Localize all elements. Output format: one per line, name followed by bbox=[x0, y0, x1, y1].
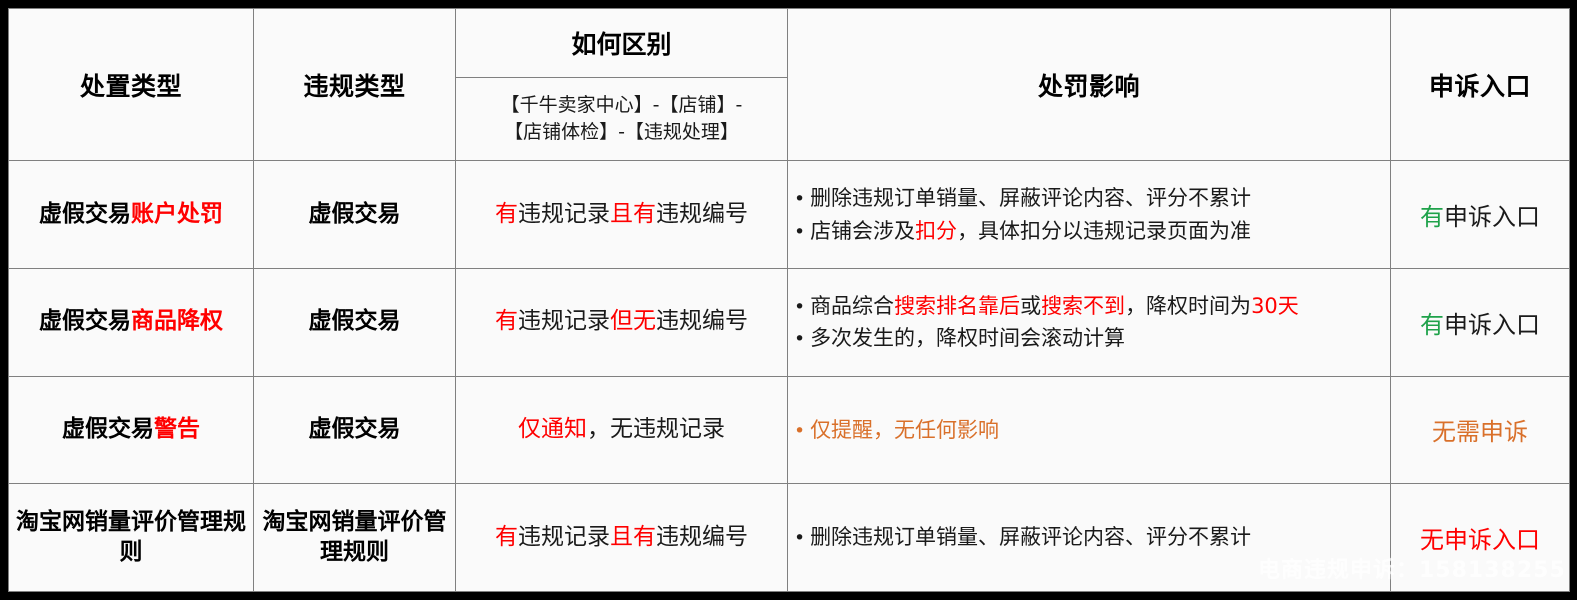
cell-disposal-type: 虚假交易警告 bbox=[9, 376, 254, 484]
text-run: 违规记录 bbox=[518, 524, 610, 550]
text-run: 且有 bbox=[610, 201, 656, 227]
table-row: 虚假交易商品降权 虚假交易 有违规记录但无违规编号 商品综合搜索排名靠后或搜索不… bbox=[9, 269, 1570, 377]
impact-bullet-line: 删除违规订单销量、屏蔽评论内容、评分不累计 bbox=[794, 521, 1384, 554]
cell-penalty-impact: 商品综合搜索排名靠后或搜索不到，降权时间为30天多次发生的，降权时间会滚动计算 bbox=[788, 269, 1391, 377]
text-run: 扣分 bbox=[915, 219, 957, 243]
text-run: 仅通知 bbox=[518, 416, 587, 442]
header-cell-violation-type: 违规类型 bbox=[254, 9, 456, 161]
impact-bullet-line: 多次发生的，降权时间会滚动计算 bbox=[794, 322, 1384, 355]
cell-appeal-entry: 有申诉入口 bbox=[1391, 269, 1570, 377]
text-run: 30天 bbox=[1251, 294, 1299, 318]
table-row: 淘宝网销量评价管理规则 淘宝网销量评价管理规则 有违规记录且有违规编号 删除违规… bbox=[9, 484, 1570, 592]
header-path-line-2: 【店铺体检】-【违规处理】 bbox=[462, 119, 781, 147]
cell-disposal-type: 虚假交易账户处罚 bbox=[9, 161, 254, 269]
text-run: 多次发生的，降权时间会滚动计算 bbox=[810, 326, 1125, 350]
cell-violation-type: 虚假交易 bbox=[254, 269, 456, 377]
text-run: 有 bbox=[495, 308, 518, 334]
text-run: 无申诉入口 bbox=[1420, 526, 1540, 554]
text-run: 申诉入口 bbox=[1444, 203, 1540, 231]
penalty-comparison-table: 处置类型 违规类型 如何区别 处罚影响 申诉入口 【千牛卖家中心】-【店铺】- … bbox=[8, 8, 1570, 592]
cell-how-to-distinguish: 仅通知，无违规记录 bbox=[456, 376, 788, 484]
text-run: 虚假交易 bbox=[309, 308, 401, 334]
text-run: 淘宝网销量评价管理规则 bbox=[16, 509, 246, 565]
text-run: 且有 bbox=[610, 524, 656, 550]
text-run: 违规记录 bbox=[518, 308, 610, 334]
text-run: 虚假交易 bbox=[62, 416, 154, 442]
text-run: 仅提醒，无任何影响 bbox=[810, 418, 999, 442]
cell-violation-type: 虚假交易 bbox=[254, 161, 456, 269]
header-cell-appeal-entry: 申诉入口 bbox=[1391, 9, 1570, 161]
cell-how-to-distinguish: 有违规记录且有违规编号 bbox=[456, 484, 788, 592]
text-run: 搜索排名靠后 bbox=[894, 294, 1020, 318]
impact-bullet-line: 仅提醒，无任何影响 bbox=[794, 414, 1384, 447]
text-run: 或 bbox=[1020, 294, 1041, 318]
text-run: 有 bbox=[495, 524, 518, 550]
text-run: 虚假交易 bbox=[39, 308, 131, 334]
text-run: 商品降权 bbox=[131, 308, 223, 334]
cell-violation-type: 虚假交易 bbox=[254, 376, 456, 484]
text-run: 申诉入口 bbox=[1444, 311, 1540, 339]
cell-penalty-impact: 删除违规订单销量、屏蔽评论内容、评分不累计 bbox=[788, 484, 1391, 592]
text-run: 删除违规订单销量、屏蔽评论内容、评分不累计 bbox=[810, 186, 1251, 210]
text-run: 删除违规订单销量、屏蔽评论内容、评分不累计 bbox=[810, 525, 1251, 549]
text-run: 但无 bbox=[610, 308, 656, 334]
header-cell-penalty-impact: 处罚影响 bbox=[788, 9, 1391, 161]
text-run: 违规编号 bbox=[656, 524, 748, 550]
cell-penalty-impact: 删除违规订单销量、屏蔽评论内容、评分不累计店铺会涉及扣分，具体扣分以违规记录页面… bbox=[788, 161, 1391, 269]
text-run: 违规编号 bbox=[656, 308, 748, 334]
cell-disposal-type: 虚假交易商品降权 bbox=[9, 269, 254, 377]
cell-how-to-distinguish: 有违规记录且有违规编号 bbox=[456, 161, 788, 269]
cell-appeal-entry: 有申诉入口 bbox=[1391, 161, 1570, 269]
text-run: 违规记录 bbox=[518, 201, 610, 227]
text-run: 搜索不到 bbox=[1041, 294, 1125, 318]
text-run: 账户处罚 bbox=[131, 201, 223, 227]
cell-how-to-distinguish: 有违规记录但无违规编号 bbox=[456, 269, 788, 377]
text-run: ，无违规记录 bbox=[587, 416, 725, 442]
header-cell-disposal-type: 处置类型 bbox=[9, 9, 254, 161]
text-run: 虚假交易 bbox=[39, 201, 131, 227]
table-row: 虚假交易警告 虚假交易 仅通知，无违规记录 仅提醒，无任何影响 无需申诉 bbox=[9, 376, 1570, 484]
text-run: 违规编号 bbox=[656, 201, 748, 227]
text-run: ，降权时间为 bbox=[1125, 294, 1251, 318]
cell-appeal-entry: 无申诉入口 bbox=[1391, 484, 1570, 592]
impact-bullet-line: 商品综合搜索排名靠后或搜索不到，降权时间为30天 bbox=[794, 290, 1384, 323]
impact-bullet-line: 店铺会涉及扣分，具体扣分以违规记录页面为准 bbox=[794, 215, 1384, 248]
table-screenshot: 处置类型 违规类型 如何区别 处罚影响 申诉入口 【千牛卖家中心】-【店铺】- … bbox=[0, 0, 1577, 600]
cell-violation-type: 淘宝网销量评价管理规则 bbox=[254, 484, 456, 592]
cell-disposal-type: 淘宝网销量评价管理规则 bbox=[9, 484, 254, 592]
text-run: 有 bbox=[1420, 203, 1444, 231]
text-run: 商品综合 bbox=[810, 294, 894, 318]
text-run: 无需申诉 bbox=[1432, 418, 1528, 446]
cell-appeal-entry: 无需申诉 bbox=[1391, 376, 1570, 484]
impact-bullet-line: 删除违规订单销量、屏蔽评论内容、评分不累计 bbox=[794, 182, 1384, 215]
header-cell-how-to-distinguish: 如何区别 bbox=[456, 9, 788, 78]
text-run: 虚假交易 bbox=[309, 201, 401, 227]
text-run: 虚假交易 bbox=[309, 416, 401, 442]
text-run: 警告 bbox=[154, 416, 200, 442]
table-row: 虚假交易账户处罚 虚假交易 有违规记录且有违规编号 删除违规订单销量、屏蔽评论内… bbox=[9, 161, 1570, 269]
table-header-row: 处置类型 违规类型 如何区别 处罚影响 申诉入口 bbox=[9, 9, 1570, 78]
cell-penalty-impact: 仅提醒，无任何影响 bbox=[788, 376, 1391, 484]
text-run: ，具体扣分以违规记录页面为准 bbox=[957, 219, 1251, 243]
text-run: 淘宝网销量评价管理规则 bbox=[263, 509, 447, 565]
header-cell-how-path: 【千牛卖家中心】-【店铺】- 【店铺体检】-【违规处理】 bbox=[456, 78, 788, 161]
header-path-line-1: 【千牛卖家中心】-【店铺】- bbox=[462, 92, 781, 120]
text-run: 店铺会涉及 bbox=[810, 219, 915, 243]
text-run: 有 bbox=[495, 201, 518, 227]
text-run: 有 bbox=[1420, 311, 1444, 339]
